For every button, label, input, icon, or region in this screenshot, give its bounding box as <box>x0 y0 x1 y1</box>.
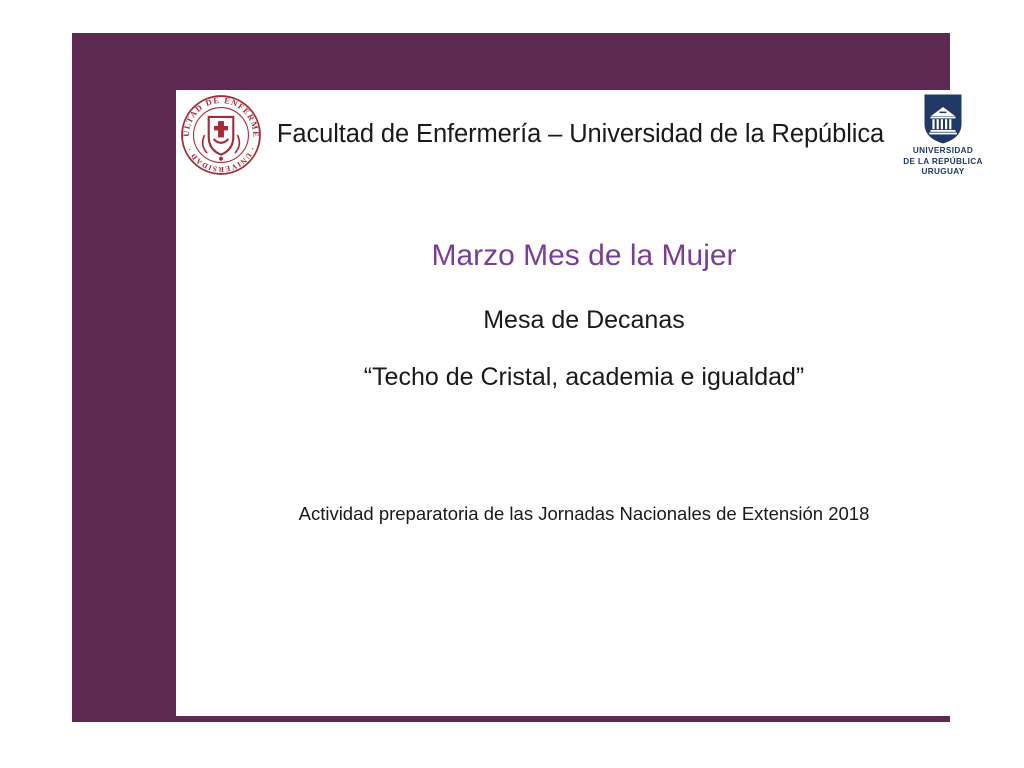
slide-content-card: FACULTAD DE ENFERMERIA · UNIVERSIDAD · <box>176 90 992 716</box>
slide-subtitle-primary: Mesa de Decanas <box>176 305 992 335</box>
udelar-wordmark-line-1: UNIVERSIDAD <box>894 146 992 157</box>
slide-subtitle-secondary: “Techo de Cristal, academia e igualdad” <box>176 362 992 392</box>
udelar-wordmark-line-2: DE LA REPÚBLICA <box>894 157 992 168</box>
slide-header: FACULTAD DE ENFERMERIA · UNIVERSIDAD · <box>176 90 992 195</box>
slide-header-title: Facultad de Enfermería – Universidad de … <box>268 120 893 149</box>
udelar-wordmark: UNIVERSIDAD DE LA REPÚBLICA URUGUAY <box>894 146 992 178</box>
faculty-of-nursing-seal-icon: FACULTAD DE ENFERMERIA · UNIVERSIDAD · <box>180 94 262 176</box>
presentation-slide: FACULTAD DE ENFERMERIA · UNIVERSIDAD · <box>0 0 1024 768</box>
udelar-shield-icon <box>923 93 963 145</box>
udelar-logo: UNIVERSIDAD DE LA REPÚBLICA URUGUAY <box>894 92 992 190</box>
slide-footnote: Actividad preparatoria de las Jornadas N… <box>176 503 992 525</box>
slide-frame-border: FACULTAD DE ENFERMERIA · UNIVERSIDAD · <box>72 33 950 722</box>
udelar-wordmark-line-3: URUGUAY <box>894 167 992 178</box>
slide-title: Marzo Mes de la Mujer <box>176 238 992 274</box>
